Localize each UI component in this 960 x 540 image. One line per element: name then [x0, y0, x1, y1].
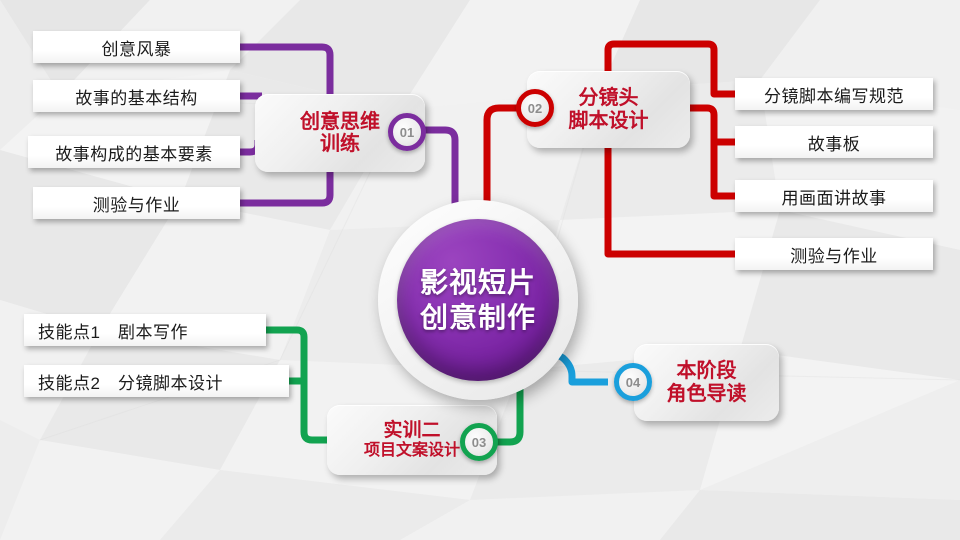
leaf-box[interactable]: 测验与作业: [33, 187, 240, 219]
wire-branch-04: [553, 352, 608, 382]
leaf-label: 测验与作业: [93, 191, 181, 216]
leaf-label: 分镜脚本编写规范: [764, 82, 904, 107]
branch-number: 03: [472, 435, 486, 450]
branch-title-line1: 实训二: [383, 420, 440, 441]
branch-number: 04: [626, 375, 640, 390]
branch-number: 02: [528, 101, 542, 116]
leaf-label: 技能点2 分镜脚本设计: [38, 369, 223, 394]
leaf-label: 故事的基本结构: [75, 84, 198, 109]
branch-title-line2: 训练: [320, 133, 360, 155]
center-title-line1: 影视短片: [420, 265, 536, 300]
leaf-box[interactable]: 故事构成的基本要素: [28, 136, 240, 168]
branch-title-line1: 创意思维: [300, 111, 380, 133]
leaf-box[interactable]: 技能点1 剧本写作: [24, 314, 266, 346]
branch-title-line2: 项目文案设计: [364, 442, 460, 460]
branch-title-line2: 脚本设计: [569, 110, 649, 132]
leaf-label: 故事板: [808, 130, 861, 155]
mindmap-slide: 创意风暴 故事的基本结构 故事构成的基本要素 测验与作业 创意思维 训练 01 …: [0, 0, 960, 540]
leaf-box[interactable]: 故事板: [735, 126, 933, 158]
leaf-box[interactable]: 故事的基本结构: [33, 80, 240, 112]
branch-title-line2: 角色导读: [667, 383, 747, 405]
branch-badge-01[interactable]: 01: [388, 113, 426, 151]
leaf-box[interactable]: 技能点2 分镜脚本设计: [24, 365, 289, 397]
leaf-box[interactable]: 创意风暴: [33, 31, 240, 63]
branch-badge-02[interactable]: 02: [516, 89, 554, 127]
leaf-label: 创意风暴: [102, 35, 172, 60]
leaf-label: 故事构成的基本要素: [55, 140, 213, 165]
branch-title-line1: 分镜头: [579, 87, 639, 109]
branch-number: 01: [400, 125, 414, 140]
center-hub[interactable]: 影视短片 创意制作: [378, 200, 578, 400]
leaf-box[interactable]: 分镜脚本编写规范: [735, 78, 933, 110]
leaf-label: 用画面讲故事: [782, 184, 887, 209]
center-hub-inner: 影视短片 创意制作: [397, 219, 559, 381]
branch-badge-04[interactable]: 04: [614, 363, 652, 401]
leaf-box[interactable]: 测验与作业: [735, 238, 933, 270]
branch-title-line1: 本阶段: [677, 360, 737, 382]
leaf-box[interactable]: 用画面讲故事: [735, 180, 933, 212]
leaf-label: 技能点1 剧本写作: [38, 318, 188, 343]
branch-node-04[interactable]: 本阶段 角色导读: [634, 344, 779, 421]
center-title-line2: 创意制作: [420, 300, 536, 335]
branch-badge-03[interactable]: 03: [460, 423, 498, 461]
leaf-label: 测验与作业: [790, 242, 878, 267]
